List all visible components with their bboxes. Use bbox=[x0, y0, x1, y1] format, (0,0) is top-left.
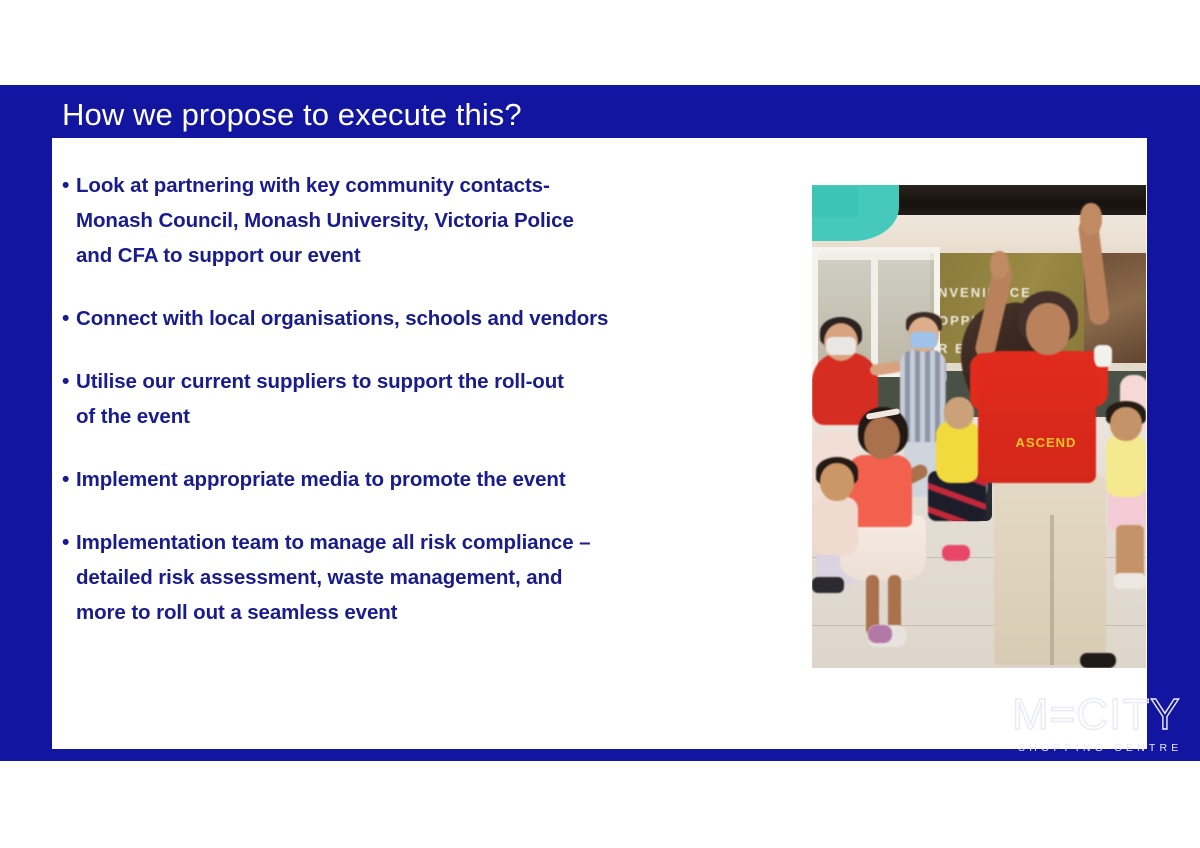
bullet-list: • Look at partnering with key community … bbox=[62, 168, 822, 658]
bullet-marker-icon: • bbox=[62, 168, 76, 203]
bullet-text: Implement appropriate media to promote t… bbox=[76, 462, 822, 497]
photo-person-kid-yellow-head bbox=[944, 397, 974, 429]
photo-face-mask-icon bbox=[910, 332, 937, 348]
photo-face-mask-icon bbox=[826, 337, 856, 355]
photo-instructor-hand-left bbox=[990, 251, 1009, 279]
logo-wordmark: M=CITY bbox=[1012, 692, 1181, 738]
list-item: • Utilise our current suppliers to suppo… bbox=[62, 364, 822, 434]
photo-person-small-child-head bbox=[820, 463, 854, 501]
logo-tagline: SHOPPING CENTRE bbox=[1018, 742, 1183, 754]
content-card: • Look at partnering with key community … bbox=[52, 138, 1147, 749]
photo-teal-shape-secondary bbox=[812, 187, 858, 217]
slide: How we propose to execute this? • Look a… bbox=[0, 0, 1200, 848]
photo-person-right-shoe bbox=[1114, 573, 1146, 589]
bullet-text: Look at partnering with key community co… bbox=[76, 168, 822, 273]
bullet-marker-icon: • bbox=[62, 525, 76, 560]
photo-person-kid-yellow bbox=[936, 421, 980, 483]
photo-instructor-pants-seam bbox=[1050, 515, 1054, 665]
photo-instructor-head bbox=[1026, 303, 1070, 355]
photo-person-girl-shoe-accent bbox=[868, 625, 892, 643]
photo-content: NVENIENCE OPPING FOR R E N bbox=[812, 185, 1146, 668]
photo-instructor-shirt bbox=[978, 351, 1096, 483]
photo-person-kid-yellow-shoe bbox=[942, 545, 970, 561]
photo-instructor-shoe bbox=[1080, 653, 1116, 668]
list-item: • Connect with local organisations, scho… bbox=[62, 301, 822, 336]
photo-instructor-cuff bbox=[1094, 345, 1112, 367]
photo-person-small-child bbox=[812, 497, 858, 555]
bullet-text: Implementation team to manage all risk c… bbox=[76, 525, 822, 630]
list-item: • Implement appropriate media to promote… bbox=[62, 462, 822, 497]
bullet-marker-icon: • bbox=[62, 462, 76, 497]
photo-person-child-left-shoe bbox=[812, 577, 844, 593]
photo-person-right-head bbox=[1110, 407, 1142, 441]
bullet-marker-icon: • bbox=[62, 364, 76, 399]
photo-instructor-hand-right bbox=[1080, 203, 1102, 235]
photo-instructor-shirt-text: ASCEND bbox=[994, 435, 1098, 450]
photo-person-girl-head bbox=[864, 417, 900, 459]
bullet-text: Connect with local organisations, school… bbox=[76, 301, 822, 336]
bullet-marker-icon: • bbox=[62, 301, 76, 336]
mcity-logo: M=CITY SHOPPING CENTRE bbox=[1012, 692, 1198, 758]
list-item: • Implementation team to manage all risk… bbox=[62, 525, 822, 630]
event-photo: NVENIENCE OPPING FOR R E N bbox=[812, 185, 1146, 668]
page-title: How we propose to execute this? bbox=[62, 93, 962, 139]
bullet-text: Utilise our current suppliers to support… bbox=[76, 364, 822, 434]
photo-person-right-kid bbox=[1106, 435, 1146, 497]
list-item: • Look at partnering with key community … bbox=[62, 168, 822, 273]
